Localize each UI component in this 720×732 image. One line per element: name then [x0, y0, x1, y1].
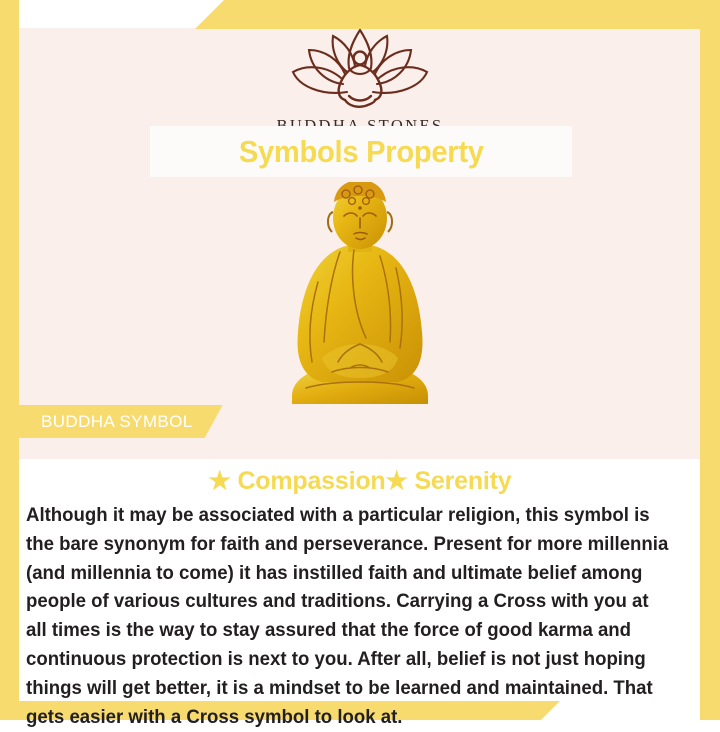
ribbon-label: BUDDHA SYMBOL [41, 412, 193, 432]
content-headline: ★ Compassion★ Serenity [0, 466, 720, 496]
content-paragraph: Although it may be associated with a par… [26, 502, 672, 732]
seated-buddha-illustration [262, 182, 458, 410]
page-title: Symbols Property [239, 134, 484, 170]
lotus-meditation-icon [0, 26, 720, 112]
infographic-poster: BUDDHA STONES Symbols Property [0, 0, 720, 720]
top-accent-bar [195, 0, 720, 29]
brand-logo: BUDDHA STONES [0, 26, 720, 136]
title-banner: Symbols Property [150, 126, 572, 177]
buddha-symbol-ribbon: BUDDHA SYMBOL [19, 405, 223, 438]
